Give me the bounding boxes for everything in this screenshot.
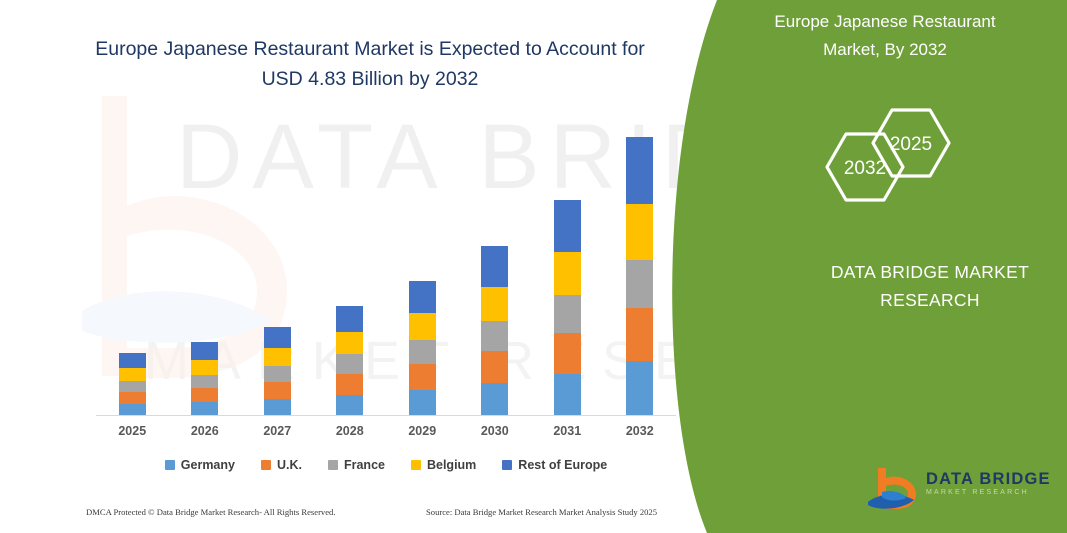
- legend-label-rest-of-europe: Rest of Europe: [518, 458, 607, 472]
- footer-copyright: DMCA Protected © Data Bridge Market Rese…: [86, 507, 336, 517]
- bar-segment-france-2027[interactable]: [264, 366, 291, 382]
- bar-segment-u-k-2025[interactable]: [119, 392, 146, 404]
- panel-title: Europe Japanese Restaurant Market, By 20…: [735, 8, 1035, 64]
- bar-segment-france-2031[interactable]: [554, 295, 581, 333]
- bar-segment-belgium-2029[interactable]: [409, 313, 436, 340]
- brand-name-line-1: DATA BRIDGE MARKET: [831, 262, 1029, 282]
- bar-segment-rest-of-europe-2026[interactable]: [191, 342, 218, 360]
- year-hexagon-badges: 2025 2032: [820, 96, 990, 206]
- legend-label-belgium: Belgium: [427, 458, 476, 472]
- x-axis-label-2030: 2030: [465, 424, 525, 438]
- dbmr-logo[interactable]: DATA BRIDGE MARKET RESEARCH: [866, 462, 1041, 517]
- brand-name: DATA BRIDGE MARKET RESEARCH: [780, 258, 1067, 314]
- bar-2025[interactable]: [119, 353, 146, 416]
- legend-swatch-germany: [165, 460, 175, 470]
- bar-2030[interactable]: [481, 246, 508, 416]
- chart-legend: GermanyU.K.FranceBelgiumRest of Europe: [96, 455, 676, 475]
- bar-segment-rest-of-europe-2028[interactable]: [336, 306, 363, 332]
- legend-item-belgium[interactable]: Belgium: [411, 458, 476, 472]
- footer: DMCA Protected © Data Bridge Market Rese…: [86, 507, 686, 523]
- footer-source: Source: Data Bridge Market Research Mark…: [426, 507, 657, 517]
- legend-swatch-rest-of-europe: [502, 460, 512, 470]
- bar-segment-u-k-2027[interactable]: [264, 382, 291, 399]
- bar-segment-germany-2030[interactable]: [481, 383, 508, 416]
- legend-label-u-k: U.K.: [277, 458, 302, 472]
- brand-name-line-2: RESEARCH: [880, 290, 980, 310]
- legend-swatch-belgium: [411, 460, 421, 470]
- bar-segment-belgium-2031[interactable]: [554, 252, 581, 295]
- bar-segment-belgium-2026[interactable]: [191, 360, 218, 375]
- legend-item-france[interactable]: France: [328, 458, 385, 472]
- bar-segment-france-2026[interactable]: [191, 375, 218, 388]
- dbmr-logo-mark-icon: [866, 464, 922, 514]
- legend-swatch-u-k: [261, 460, 271, 470]
- bar-segment-france-2030[interactable]: [481, 321, 508, 351]
- bar-segment-u-k-2026[interactable]: [191, 388, 218, 402]
- bar-segment-germany-2027[interactable]: [264, 399, 291, 416]
- page-title-line-2: USD 4.83 Billion by 2032: [262, 68, 479, 90]
- bar-2029[interactable]: [409, 281, 436, 416]
- x-axis-line: [96, 415, 676, 416]
- bar-segment-rest-of-europe-2031[interactable]: [554, 200, 581, 252]
- page-title-line-1: Europe Japanese Restaurant Market is Exp…: [95, 38, 645, 60]
- dbmr-logo-subtext: MARKET RESEARCH: [926, 489, 1029, 496]
- bar-segment-rest-of-europe-2030[interactable]: [481, 246, 508, 287]
- bar-segment-germany-2028[interactable]: [336, 395, 363, 416]
- bar-2027[interactable]: [264, 327, 291, 416]
- x-axis-label-2031: 2031: [537, 424, 597, 438]
- x-axis-labels: 20252026202720282029203020312032: [96, 424, 676, 446]
- infographic-canvas: DATA BRIDGE MARKET RESEARCH Europe Japan…: [0, 0, 1067, 533]
- bar-2026[interactable]: [191, 342, 218, 416]
- panel-title-line-1: Europe Japanese Restaurant: [774, 12, 995, 31]
- bar-segment-rest-of-europe-2025[interactable]: [119, 353, 146, 368]
- bar-2028[interactable]: [336, 306, 363, 416]
- bar-segment-germany-2031[interactable]: [554, 374, 581, 416]
- legend-item-germany[interactable]: Germany: [165, 458, 235, 472]
- x-axis-label-2025: 2025: [102, 424, 162, 438]
- bar-segment-france-2025[interactable]: [119, 381, 146, 392]
- bar-segment-belgium-2027[interactable]: [264, 348, 291, 366]
- legend-label-france: France: [344, 458, 385, 472]
- bar-segment-u-k-2030[interactable]: [481, 351, 508, 383]
- bar-segment-germany-2029[interactable]: [409, 390, 436, 416]
- dbmr-logo-text: DATA BRIDGE: [926, 470, 1051, 489]
- legend-item-u-k[interactable]: U.K.: [261, 458, 302, 472]
- bar-segment-rest-of-europe-2029[interactable]: [409, 281, 436, 313]
- legend-item-rest-of-europe[interactable]: Rest of Europe: [502, 458, 607, 472]
- hexagon-2032-label: 2032: [844, 158, 886, 179]
- bar-segment-france-2028[interactable]: [336, 354, 363, 374]
- bar-segment-belgium-2030[interactable]: [481, 287, 508, 321]
- bar-chart-plot-area: [96, 120, 676, 416]
- bar-segment-u-k-2031[interactable]: [554, 333, 581, 374]
- panel-title-line-2: Market, By 2032: [823, 40, 947, 59]
- hexagon-2025-label: 2025: [890, 134, 932, 155]
- bar-segment-france-2029[interactable]: [409, 340, 436, 364]
- bar-segment-germany-2026[interactable]: [191, 402, 218, 416]
- legend-label-germany: Germany: [181, 458, 235, 472]
- bar-segment-rest-of-europe-2027[interactable]: [264, 327, 291, 348]
- x-axis-label-2029: 2029: [392, 424, 452, 438]
- x-axis-label-2027: 2027: [247, 424, 307, 438]
- page-title: Europe Japanese Restaurant Market is Exp…: [70, 34, 670, 94]
- legend-swatch-france: [328, 460, 338, 470]
- x-axis-label-2028: 2028: [320, 424, 380, 438]
- bar-segment-belgium-2025[interactable]: [119, 368, 146, 381]
- x-axis-label-2026: 2026: [175, 424, 235, 438]
- bar-2031[interactable]: [554, 200, 581, 416]
- bar-segment-u-k-2028[interactable]: [336, 374, 363, 395]
- bar-segment-belgium-2028[interactable]: [336, 332, 363, 354]
- bar-segment-u-k-2029[interactable]: [409, 364, 436, 390]
